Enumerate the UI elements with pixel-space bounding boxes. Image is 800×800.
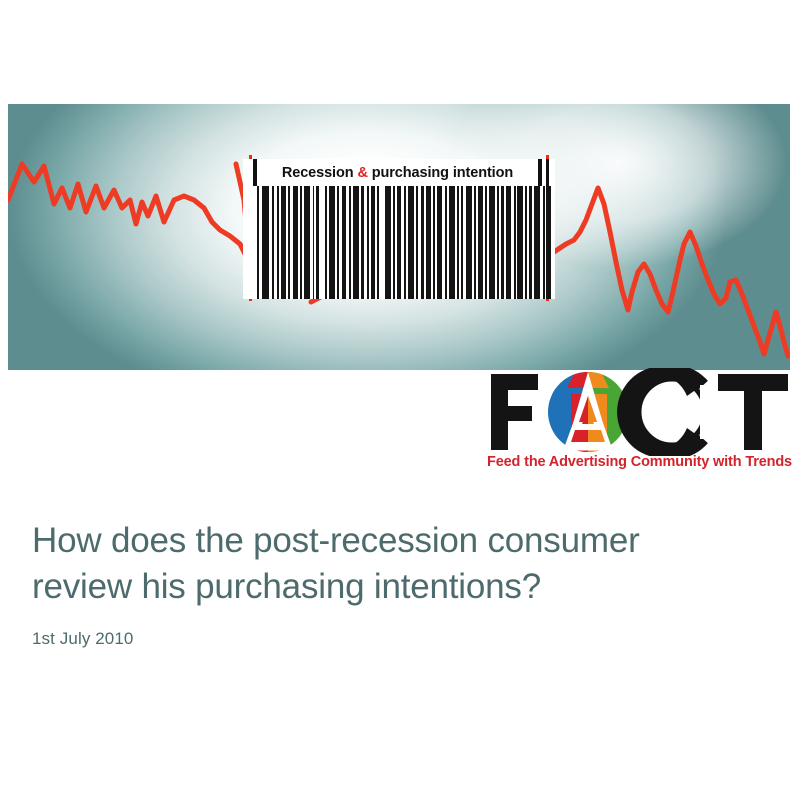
caption-after-amp: purchasing intention [368, 165, 513, 181]
barcode-caption-guard-right-2 [546, 159, 549, 186]
fact-logo: Feed the Advertising Community with Tren… [487, 368, 792, 480]
fact-wordmark-icon [487, 368, 792, 456]
deck-date: 1st July 2010 [32, 629, 762, 649]
barcode-graphic: Recession & purchasing intention [243, 159, 555, 299]
caption-before-amp: Recession [282, 165, 358, 181]
slide-page: Recession & purchasing intention [0, 0, 800, 800]
logo-letter-c [617, 368, 728, 456]
logo-letter-a-colormark [548, 372, 628, 452]
barcode-caption-guard-right-1 [538, 159, 542, 186]
fact-tagline: Feed the Advertising Community with Tren… [487, 454, 792, 470]
page-title-line-2: review his purchasing intentions? [32, 567, 541, 606]
hero-banner: Recession & purchasing intention [8, 104, 790, 370]
barcode-caption-text: Recession & purchasing intention [257, 165, 538, 181]
barcode-bars [243, 186, 555, 299]
page-title-line-1: How does the post-recession consumer [32, 521, 640, 560]
logo-letter-t [718, 374, 788, 450]
page-title: How does the post-recession consumerrevi… [32, 518, 762, 610]
title-block: How does the post-recession consumerrevi… [32, 518, 762, 649]
barcode-caption-bar: Recession & purchasing intention [243, 159, 555, 186]
logo-letter-f [491, 374, 538, 450]
caption-ampersand: & [357, 165, 367, 181]
barcode-quiet-zone [243, 186, 257, 299]
barcode-space [551, 186, 555, 299]
barcode-bar [262, 186, 269, 299]
